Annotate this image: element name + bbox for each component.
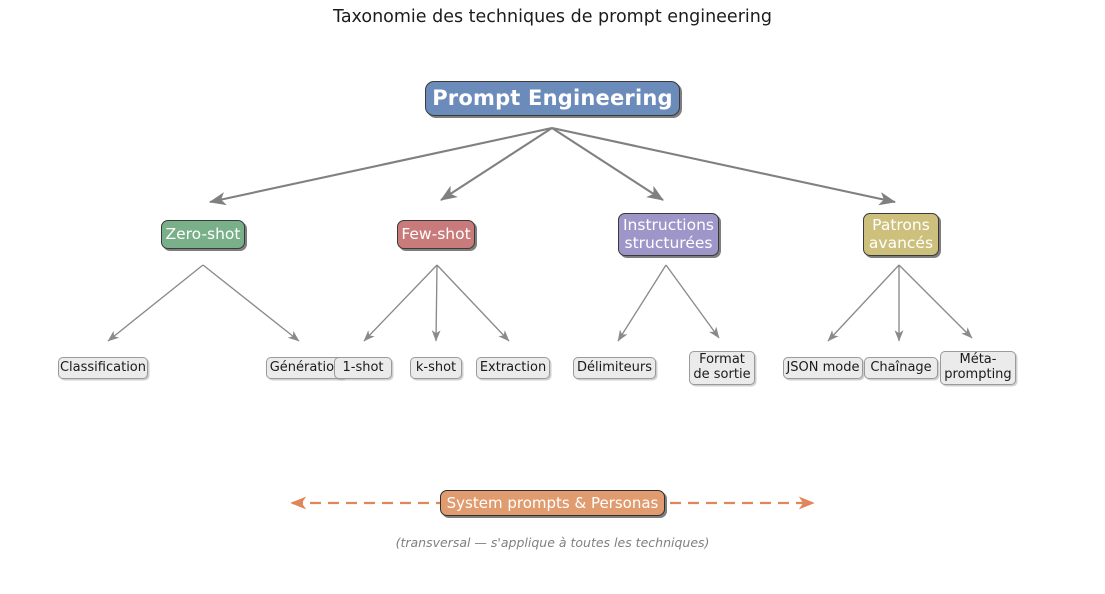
node-leaf-1-shot-label: 1-shot <box>342 361 383 376</box>
node-root[interactable]: Prompt Engineering <box>425 81 680 116</box>
node-leaf-delimiteurs[interactable]: Délimiteurs <box>573 357 656 379</box>
node-branch-patrons[interactable]: Patrons avancés <box>863 213 939 256</box>
node-leaf-chainage-label: Chaînage <box>870 361 931 376</box>
node-leaf-json-mode[interactable]: JSON mode <box>783 357 863 379</box>
edge-zero-shot-generation <box>203 265 299 341</box>
edge-few-shot-k-shot <box>436 265 437 341</box>
node-leaf-chainage[interactable]: Chaînage <box>864 357 938 379</box>
edges-root-to-branches <box>210 128 895 202</box>
edges-branches-to-leaves <box>108 265 972 341</box>
node-leaf-format-de-sortie-label: Format de sortie <box>693 353 750 382</box>
edge-root-patrons <box>552 128 895 202</box>
node-branch-zero-shot[interactable]: Zero-shot <box>161 220 245 249</box>
edge-root-few-shot <box>441 128 552 200</box>
edge-patrons-json-mode <box>828 265 899 341</box>
edge-patrons-meta-prompting <box>899 265 972 338</box>
node-leaf-classification[interactable]: Classification <box>58 357 148 379</box>
node-leaf-delimiteurs-label: Délimiteurs <box>577 361 652 376</box>
node-leaf-classification-label: Classification <box>60 361 146 376</box>
node-leaf-k-shot-label: k-shot <box>416 361 456 376</box>
edge-root-zero-shot <box>210 128 552 202</box>
node-branch-instructions-label: Instructions structurées <box>623 217 714 252</box>
node-branch-instructions[interactable]: Instructions structurées <box>618 213 719 256</box>
edge-zero-shot-classification <box>108 265 203 341</box>
node-leaf-k-shot[interactable]: k-shot <box>410 357 462 379</box>
node-branch-few-shot-label: Few-shot <box>401 226 470 243</box>
edge-few-shot-1-shot <box>364 265 437 341</box>
node-root-label: Prompt Engineering <box>432 87 673 111</box>
node-leaf-1-shot[interactable]: 1-shot <box>334 357 392 379</box>
edge-root-instructions <box>552 128 663 200</box>
node-leaf-format-de-sortie[interactable]: Format de sortie <box>689 351 755 385</box>
node-branch-few-shot[interactable]: Few-shot <box>397 220 475 249</box>
edge-instructions-delimiteurs <box>618 265 666 341</box>
page-title: Taxonomie des techniques de prompt engin… <box>0 7 1105 27</box>
transversal-caption: (transversal — s'applique à toutes les t… <box>0 535 1105 550</box>
node-branch-patrons-label: Patrons avancés <box>869 217 933 252</box>
edge-instructions-format <box>666 265 719 338</box>
node-transversal-band[interactable]: System prompts & Personas <box>440 490 665 516</box>
node-leaf-extraction[interactable]: Extraction <box>476 357 550 379</box>
node-leaf-extraction-label: Extraction <box>480 361 546 376</box>
node-leaf-meta-prompting-label: Méta- prompting <box>944 353 1011 382</box>
node-transversal-band-label: System prompts & Personas <box>447 495 659 512</box>
diagram-canvas: Taxonomie des techniques de prompt engin… <box>0 0 1105 594</box>
node-branch-zero-shot-label: Zero-shot <box>165 226 240 243</box>
node-leaf-json-mode-label: JSON mode <box>786 361 859 376</box>
edge-few-shot-extraction <box>437 265 509 341</box>
node-leaf-meta-prompting[interactable]: Méta- prompting <box>940 351 1016 385</box>
node-leaf-generation-label: Génération <box>270 361 343 376</box>
